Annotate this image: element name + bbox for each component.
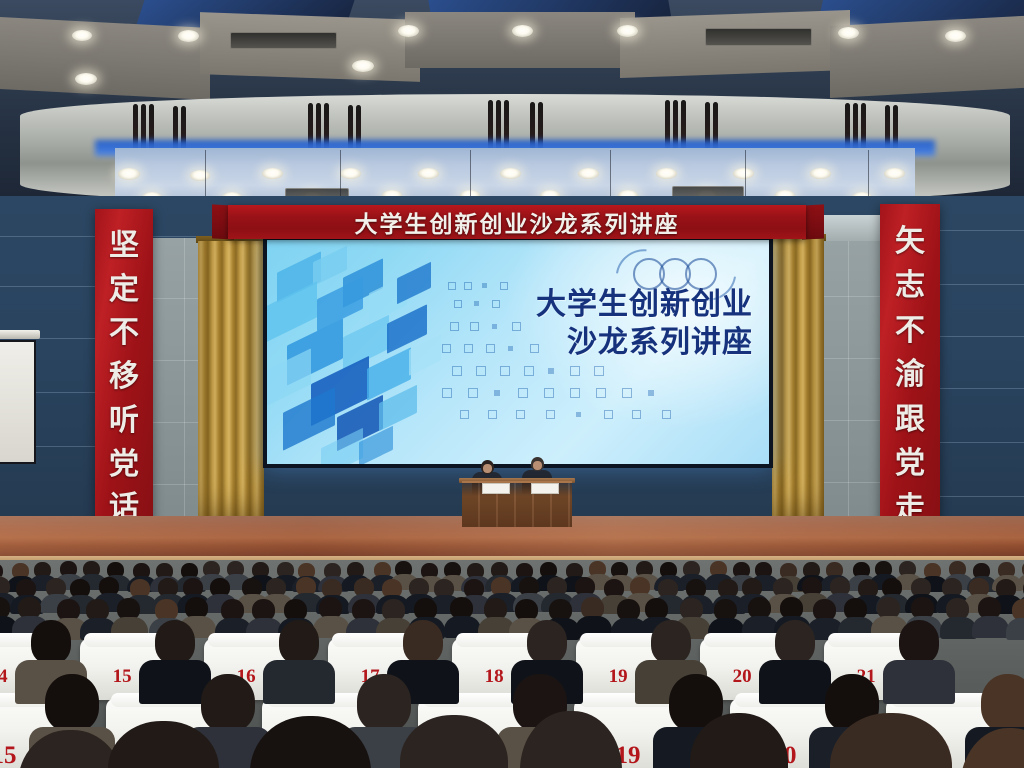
- banner-char: 跟: [895, 405, 925, 435]
- air-vent-grille: [230, 32, 337, 49]
- banner-char: 定: [109, 275, 139, 305]
- screen-title-line-2: 沙龙系列讲座: [536, 326, 753, 360]
- downlight: [340, 168, 361, 179]
- event-banner-text: 大学生创新创业沙龙系列讲座: [355, 205, 680, 239]
- downlight: [190, 170, 210, 181]
- led-screen-content: 大学生创新创业 沙龙系列讲座: [267, 240, 769, 464]
- audience-head: [403, 620, 443, 664]
- ceiling-panel: [830, 14, 1024, 98]
- banner-char: 不: [109, 318, 139, 348]
- seat-number: 20: [733, 666, 752, 688]
- audience-area: 141516171819202115161718192021: [0, 560, 1024, 768]
- name-card: [531, 483, 559, 494]
- air-vent-grille: [705, 28, 812, 46]
- banner-char: 坚: [109, 231, 139, 261]
- banner-char: 党: [895, 449, 925, 479]
- seat-number: 15: [0, 742, 16, 768]
- audience-head: [45, 674, 99, 732]
- seat-number: 15: [113, 666, 132, 688]
- led-display-screen: 大学生创新创业 沙龙系列讲座: [263, 236, 773, 468]
- banner-char: 不: [895, 316, 925, 346]
- seat-number: 14: [0, 666, 8, 688]
- downlight: [398, 25, 419, 37]
- downlight: [418, 168, 439, 179]
- downlight: [617, 25, 638, 37]
- left-vertical-banner: 坚 定 不 移 听 党 话: [95, 209, 153, 545]
- audience-shoulders: [972, 616, 1009, 638]
- audience-head: [527, 620, 567, 664]
- downlight: [75, 73, 97, 85]
- banner-char: 移: [109, 362, 139, 392]
- banner-char: 渝: [895, 360, 925, 390]
- audience-head: [357, 674, 411, 732]
- downlight: [578, 168, 599, 179]
- wall-mounted-screen: [0, 340, 36, 464]
- audience-shoulders: [263, 660, 335, 704]
- seat-number: 18: [485, 666, 504, 688]
- stage-curtain-left: [198, 241, 264, 535]
- downlight: [810, 168, 831, 179]
- downlight: [72, 30, 92, 41]
- audience-head: [775, 620, 815, 664]
- audience-head: [899, 620, 939, 664]
- audience-shoulders: [759, 660, 831, 704]
- banner-char: 听: [109, 406, 139, 436]
- audience-head: [279, 620, 319, 664]
- downlight: [178, 30, 199, 42]
- downlight: [838, 27, 859, 39]
- stage-curtain-right: [772, 239, 824, 535]
- screen-title-block: 大学生创新创业 沙龙系列讲座: [536, 288, 753, 359]
- screen-title-line-1: 大学生创新创业: [536, 288, 753, 322]
- wall-mounted-screen-housing: [0, 330, 40, 339]
- auditorium-photo: 大学生创新创业 沙龙系列讲座 大学生创新创业沙龙系列讲座 坚 定 不 移 听 党…: [0, 0, 1024, 768]
- right-vertical-banner: 矢 志 不 渝 跟 党 走: [880, 204, 940, 546]
- downlight: [352, 60, 374, 72]
- audience-head: [201, 674, 255, 732]
- ceiling: [0, 0, 1024, 215]
- banner-char: 志: [895, 271, 925, 301]
- downlight: [656, 168, 677, 179]
- name-card: [482, 483, 510, 494]
- downlight: [500, 168, 521, 179]
- downlight: [945, 30, 966, 42]
- audience-shoulders: [139, 660, 211, 704]
- audience-head: [981, 674, 1024, 732]
- downlight: [118, 168, 140, 180]
- event-banner: 大学生创新创业沙龙系列讲座: [228, 205, 806, 239]
- banner-char: 党: [109, 450, 139, 480]
- audience-shoulders: [883, 660, 955, 704]
- downlight: [512, 25, 533, 37]
- ceiling-panel: [0, 16, 210, 100]
- banner-char: 矢: [895, 227, 925, 257]
- audience-head: [651, 620, 691, 664]
- audience-head: [155, 620, 195, 664]
- seat-number: 19: [609, 666, 628, 688]
- audience-head: [31, 620, 71, 664]
- downlight: [733, 168, 754, 179]
- downlight: [262, 168, 283, 179]
- downlight: [884, 168, 905, 179]
- ceiling-panel: [405, 12, 635, 68]
